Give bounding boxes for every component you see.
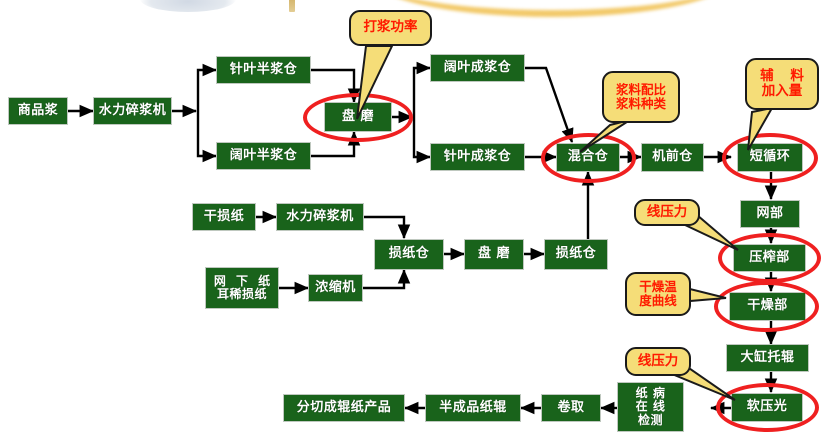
node-混合仓[interactable]: 混合仓 [556, 143, 620, 172]
node-干损纸[interactable]: 干损纸 [192, 203, 256, 231]
node-分切成辊纸产品[interactable]: 分切成辊纸产品 [283, 394, 405, 422]
callout-线压力-press[interactable]: 线压力 [634, 199, 700, 226]
node-阔叶半浆仓[interactable]: 阔叶半浆仓 [216, 142, 311, 170]
callout-label-line-1: 线压力 [638, 354, 679, 369]
node-label: 短循环 [750, 150, 791, 164]
flowchart-canvas: 商品浆 水力碎浆机 针叶半浆仓 阔叶半浆仓 盘 磨 阔叶成浆仓 针叶成浆仓 混合… [0, 0, 824, 432]
node-label: 商品浆 [18, 104, 59, 118]
node-损纸仓-1[interactable]: 损纸仓 [374, 239, 444, 270]
callout-辅料加入量[interactable]: 辅 料 加入量 [745, 58, 819, 110]
node-label: 压榨部 [749, 251, 790, 265]
callout-线压力-calender[interactable]: 线压力 [625, 347, 691, 376]
node-label: 针叶成浆仓 [444, 150, 512, 164]
node-水力碎浆机-broke[interactable]: 水力碎浆机 [276, 203, 364, 231]
node-水力碎浆机[interactable]: 水力碎浆机 [93, 97, 172, 125]
callout-label-line-1: 线压力 [647, 205, 688, 220]
callout-浆料配比浆料种类[interactable]: 浆料配比 浆料种类 [602, 71, 680, 123]
node-label: 干损纸 [204, 210, 245, 224]
callout-label-line-1: 干燥温 [639, 280, 677, 294]
node-label-line-1: 网 下 纸 [211, 275, 273, 288]
node-卷取[interactable]: 卷取 [541, 394, 601, 422]
node-label: 阔叶成浆仓 [444, 61, 512, 75]
node-短循环[interactable]: 短循环 [737, 143, 803, 172]
node-label: 水力碎浆机 [286, 210, 354, 224]
node-机前仓[interactable]: 机前仓 [641, 143, 704, 172]
node-label-line-3: 检测 [638, 414, 663, 427]
node-label: 损纸仓 [556, 247, 597, 261]
node-半成品纸辊[interactable]: 半成品纸辊 [425, 394, 521, 422]
node-网下纸耳稀损纸[interactable]: 网 下 纸 耳稀损纸 [205, 267, 279, 309]
callout-label-line-1: 辅 料 [754, 69, 810, 84]
node-label: 半成品纸辊 [439, 401, 507, 415]
node-label: 盘 磨 [478, 247, 510, 261]
callout-label-line-1: 浆料配比 [616, 83, 666, 97]
node-label: 针叶半浆仓 [230, 63, 298, 77]
node-纸病在线检测[interactable]: 纸 病 在 线 检测 [617, 382, 684, 432]
node-针叶半浆仓[interactable]: 针叶半浆仓 [216, 56, 311, 84]
node-label: 大缸托辊 [740, 351, 794, 365]
node-label: 机前仓 [652, 150, 693, 164]
node-label: 混合仓 [568, 150, 609, 164]
node-盘磨-broke[interactable]: 盘 磨 [464, 239, 524, 270]
node-针叶成浆仓[interactable]: 针叶成浆仓 [430, 143, 525, 171]
node-label: 阔叶半浆仓 [230, 149, 298, 163]
callout-干燥温度曲线[interactable]: 干燥温 度曲线 [625, 272, 691, 316]
node-label-line-2: 耳稀损纸 [217, 288, 267, 301]
node-label: 干燥部 [747, 299, 788, 313]
callout-label-line-2: 度曲线 [639, 294, 677, 308]
callout-打浆功率[interactable]: 打浆功率 [349, 10, 432, 46]
node-损纸仓-2[interactable]: 损纸仓 [544, 239, 608, 270]
node-阔叶成浆仓[interactable]: 阔叶成浆仓 [430, 54, 525, 82]
node-label: 软压光 [747, 400, 788, 414]
node-浓缩机[interactable]: 浓缩机 [308, 274, 363, 302]
node-网部[interactable]: 网部 [740, 200, 800, 228]
node-label: 卷取 [557, 401, 584, 415]
node-压榨部[interactable]: 压榨部 [733, 244, 806, 272]
node-label: 损纸仓 [389, 247, 430, 261]
connector-layer [0, 0, 824, 432]
node-大缸托辊[interactable]: 大缸托辊 [726, 344, 809, 372]
node-label: 网部 [756, 207, 783, 221]
callout-label-line-2: 加入量 [762, 84, 803, 99]
node-盘磨-pulp[interactable]: 盘 磨 [324, 102, 392, 132]
callout-label-line-2: 浆料种类 [616, 97, 666, 111]
callout-label-line-1: 打浆功率 [364, 20, 418, 35]
node-软压光[interactable]: 软压光 [731, 393, 803, 422]
node-label: 盘 磨 [342, 110, 374, 124]
node-label: 浓缩机 [315, 281, 356, 295]
node-label: 分切成辊纸产品 [297, 401, 392, 415]
node-label: 水力碎浆机 [99, 104, 167, 118]
node-商品浆[interactable]: 商品浆 [8, 97, 68, 125]
node-label-line-2: 在 线 [636, 400, 666, 413]
node-干燥部[interactable]: 干燥部 [729, 292, 806, 321]
